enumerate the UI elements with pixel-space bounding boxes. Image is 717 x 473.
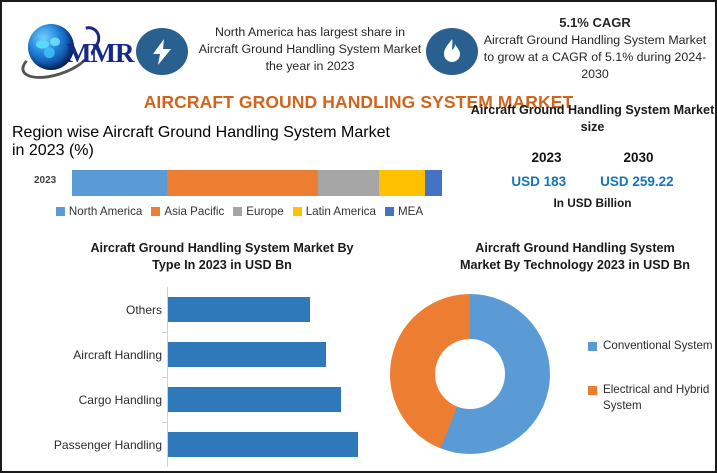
region-legend-label: MEA <box>398 205 423 218</box>
type-chart-row: Cargo Handling <box>12 377 432 422</box>
region-segment <box>72 170 167 196</box>
market-size-value-forecast: USD 259.22 <box>600 174 674 189</box>
type-chart-tick <box>162 422 167 423</box>
region-segment <box>318 170 379 196</box>
tech-chart-title: Aircraft Ground Handling System Market B… <box>434 240 716 274</box>
type-chart-title-line1: Aircraft Ground Handling System Market B… <box>12 240 432 257</box>
tech-legend-item: Electrical and Hybrid System <box>588 382 716 414</box>
market-size-unit: In USD Billion <box>470 196 715 210</box>
market-size-title: Aircraft Ground Handling System Market s… <box>470 102 715 136</box>
region-legend-label: Latin America <box>306 205 376 218</box>
market-size-panel: Aircraft Ground Handling System Market s… <box>470 102 715 210</box>
tech-chart-title-line1: Aircraft Ground Handling System <box>434 240 716 257</box>
legend-swatch-icon <box>56 207 65 216</box>
region-legend-item: North America <box>56 205 142 218</box>
type-chart-row-label: Others <box>12 303 168 317</box>
market-size-years: 2023 2030 <box>470 150 715 165</box>
market-size-values: USD 183 USD 259.22 <box>470 174 715 189</box>
lightning-bolt-icon <box>136 28 188 75</box>
tech-legend-label: Electrical and Hybrid System <box>603 382 716 414</box>
region-legend-item: MEA <box>385 205 423 218</box>
region-legend-label: Europe <box>246 205 283 218</box>
region-segment <box>379 170 425 196</box>
region-segment <box>425 170 442 196</box>
type-chart-row: Others <box>12 287 432 332</box>
type-chart-row-label: Aircraft Handling <box>12 348 168 362</box>
flame-icon <box>426 28 478 75</box>
type-bar-chart: OthersAircraft HandlingCargo HandlingPas… <box>12 287 432 467</box>
brand-name: MMR <box>66 38 133 69</box>
legend-swatch-icon <box>385 207 394 216</box>
region-legend-item: Europe <box>233 205 283 218</box>
legend-swatch-icon <box>588 386 597 395</box>
type-chart-title-line2: Type In 2023 in USD Bn <box>12 257 432 274</box>
market-size-year-base: 2023 <box>531 150 561 165</box>
market-size-year-forecast: 2030 <box>624 150 654 165</box>
region-axis-year-label: 2023 <box>34 175 56 186</box>
region-legend-item: Latin America <box>293 205 376 218</box>
header-right-highlight: 5.1% CAGR Aircraft Ground Handling Syste… <box>482 14 708 83</box>
region-chart-title-line1: Region wise Aircraft Ground Handling Sys… <box>12 124 467 142</box>
legend-swatch-icon <box>151 207 160 216</box>
type-chart-row: Passenger Handling <box>12 422 432 467</box>
region-legend-label: North America <box>69 205 142 218</box>
type-chart-row-label: Cargo Handling <box>12 393 168 407</box>
donut-center-hole <box>435 339 505 409</box>
type-chart-title: Aircraft Ground Handling System Market B… <box>12 240 432 274</box>
type-chart-bar <box>168 342 326 367</box>
type-chart-bar <box>168 432 358 457</box>
cagr-description: Aircraft Ground Handling System Market t… <box>484 33 706 81</box>
region-chart-title: Region wise Aircraft Ground Handling Sys… <box>12 124 467 160</box>
region-segment <box>167 170 318 196</box>
header-left-highlight: North America has largest share in Aircr… <box>194 24 426 75</box>
legend-swatch-icon <box>233 207 242 216</box>
tech-chart-legend: Conventional SystemElectrical and Hybrid… <box>588 338 716 414</box>
type-chart-bar <box>168 297 310 322</box>
tech-legend-item: Conventional System <box>588 338 716 354</box>
header: MMR North America has largest share in A… <box>2 2 715 90</box>
type-chart-tick <box>162 377 167 378</box>
type-chart-row-label: Passenger Handling <box>12 438 168 452</box>
market-size-value-base: USD 183 <box>511 174 566 189</box>
infographic-root: MMR North America has largest share in A… <box>0 0 717 473</box>
region-chart-legend: North AmericaAsia PacificEuropeLatin Ame… <box>12 205 467 218</box>
region-chart-title-line2: in 2023 (%) <box>12 142 467 160</box>
region-legend-item: Asia Pacific <box>151 205 224 218</box>
region-legend-label: Asia Pacific <box>164 205 224 218</box>
region-stacked-bar-chart: 2023 <box>12 170 467 198</box>
tech-chart-title-line2: Market By Technology 2023 in USD Bn <box>434 257 716 274</box>
mmr-logo: MMR <box>20 20 140 78</box>
type-chart-row: Aircraft Handling <box>12 332 432 377</box>
region-stacked-bar <box>72 170 442 196</box>
tech-legend-label: Conventional System <box>603 338 713 354</box>
legend-swatch-icon <box>293 207 302 216</box>
cagr-value: 5.1% CAGR <box>482 14 708 31</box>
legend-swatch-icon <box>588 342 597 351</box>
type-chart-tick <box>162 332 167 333</box>
type-chart-bar <box>168 387 341 412</box>
